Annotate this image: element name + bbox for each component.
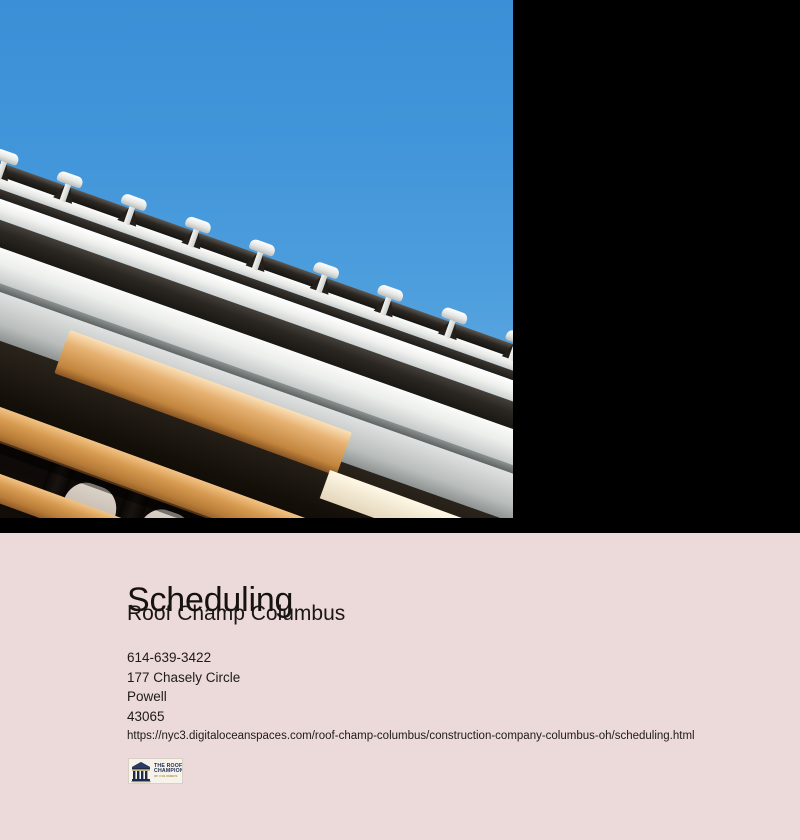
contact-zip: 43065 [127, 707, 687, 727]
contact-street: 177 Chasely Circle [127, 668, 687, 688]
the-roof-champion-logo[interactable]: THE ROOF CHAMPION OF COLUMBUS [128, 758, 183, 784]
roof-champion-crown-icon [129, 759, 153, 783]
hero-band [0, 0, 800, 533]
contact-city: Powell [127, 687, 687, 707]
logo-line-3: OF COLUMBUS [154, 775, 183, 778]
contact-phone: 614-639-3422 [127, 648, 687, 668]
hero-photo [0, 0, 513, 518]
page-url-link[interactable]: https://nyc3.digitaloceanspaces.com/roof… [127, 728, 695, 744]
contact-block: 614-639-3422 177 Chasely Circle Powell 4… [127, 648, 687, 726]
page-root: Scheduling Roof Champ Columbus 614-639-3… [0, 0, 800, 840]
logo-wordmark: THE ROOF CHAMPION OF COLUMBUS [154, 764, 183, 778]
company-name: Roof Champ Columbus [127, 601, 345, 627]
